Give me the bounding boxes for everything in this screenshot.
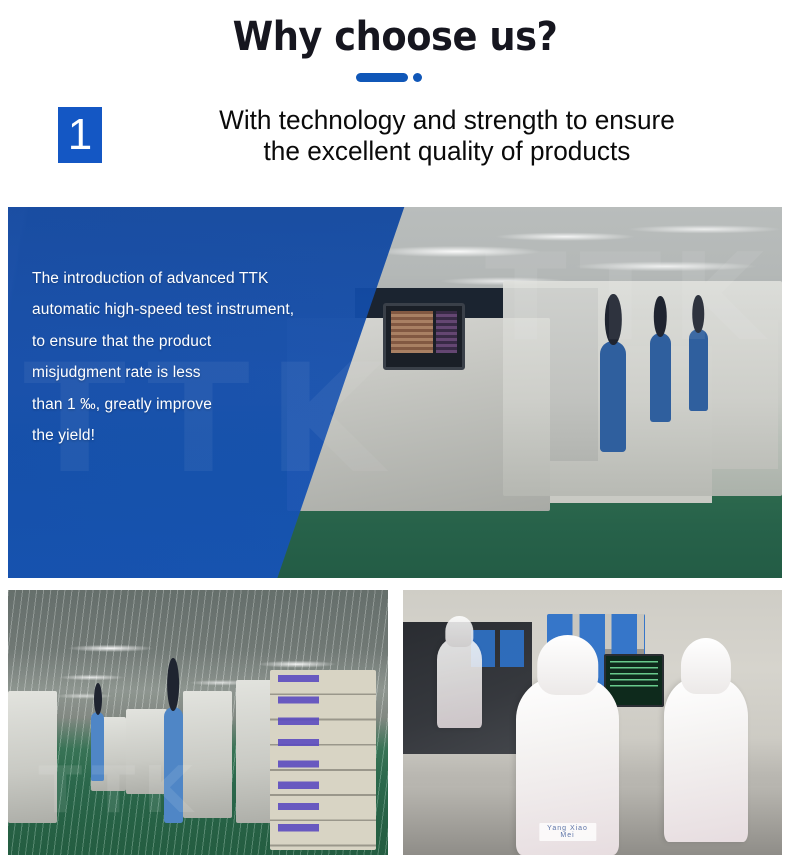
hero-caption-line: automatic high-speed test instrument, [32,294,382,325]
feature-number-badge: 1 [58,107,102,163]
cleanroom-worker-front: Yang Xiao Mei [516,677,618,855]
feature-heading-row: 1 With technology and strength to ensure… [0,105,790,166]
thumbnail-cleanroom: Yang Xiao Mei [403,590,783,855]
thumbnail-row: TTK Yang Xiao Mei [8,590,782,855]
title-divider [356,72,434,83]
feature-headline-line1: With technology and strength to ensure [219,105,675,135]
name-tag: Yang Xiao Mei [539,823,596,841]
page-title: Why choose us? [32,14,759,60]
worker-figure [91,712,104,781]
hero-photo: TTK TTK The introduction of advanced TTK… [8,207,782,578]
hero-caption-line: misjudgment rate is less [32,357,382,388]
hero-caption: The introduction of advanced TTK automat… [32,263,382,452]
feature-headline-line2: the excellent quality of products [118,136,776,167]
hero-caption-line: than 1 ‰, greatly improve [32,389,382,420]
feature-headline: With technology and strength to ensure t… [112,105,779,166]
equipment-cabinet [8,691,57,824]
divider-dot-icon [413,73,422,82]
production-line-photo [8,590,388,855]
cleanroom-worker-side [664,677,747,841]
worker-figure [650,333,670,422]
hero-caption-line: The introduction of advanced TTK [32,263,382,294]
thumbnail-production-line: TTK [8,590,388,855]
instrument-rack [270,670,376,850]
cleanroom-photo: Yang Xiao Mei [403,590,783,855]
hero-caption-line: to ensure that the product [32,326,382,357]
equipment-cabinet [126,709,168,794]
hero-caption-line: the yield! [32,420,382,451]
worker-figure [600,341,626,452]
machine-monitor [383,303,464,370]
equipment-cabinet [183,691,232,818]
why-choose-us-page: Why choose us? 1 With technology and str… [0,0,790,859]
worker-figure [164,707,183,824]
divider-bar [356,73,408,82]
worker-figure [689,329,708,411]
page-header: Why choose us? [0,0,790,83]
cleanroom-worker-background [437,638,483,728]
